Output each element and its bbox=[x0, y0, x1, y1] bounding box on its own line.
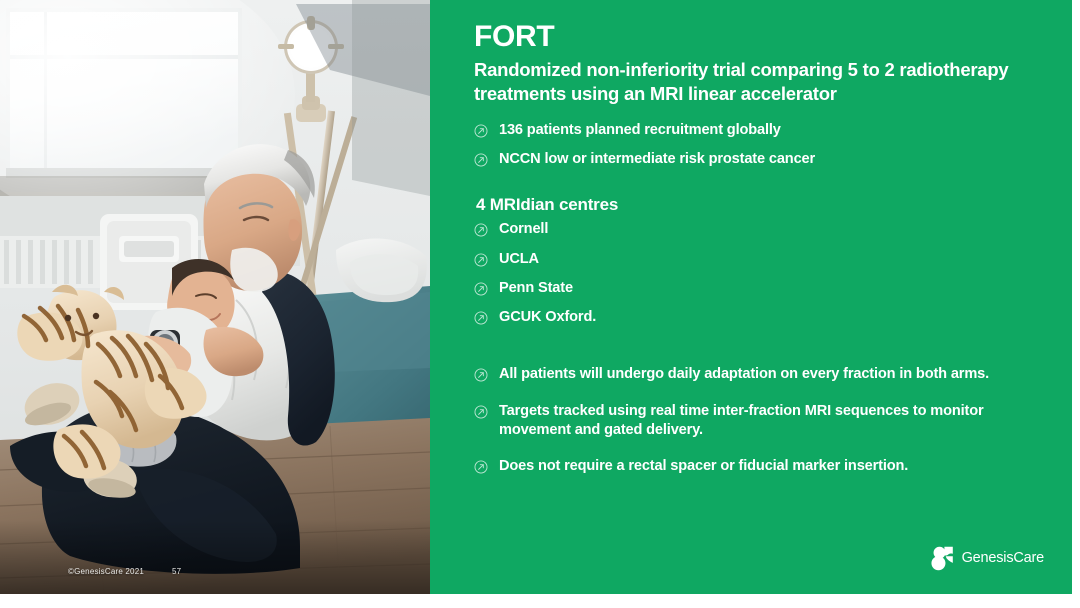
list-item: Cornell bbox=[474, 220, 1034, 239]
list-item: 136 patients planned recruitment globall… bbox=[474, 121, 1034, 140]
circled-arrow-northeast-icon bbox=[474, 405, 488, 419]
genesiscare-logomark-icon bbox=[929, 544, 957, 572]
list-item-label: NCCN low or intermediate risk prostate c… bbox=[499, 150, 815, 169]
list-item: GCUK Oxford. bbox=[474, 308, 1034, 327]
photograph-illustration bbox=[0, 0, 430, 594]
slide-subtitle: Randomized non-inferiority trial compari… bbox=[474, 58, 1019, 107]
section-heading-centres: 4 MRIdian centres bbox=[476, 195, 1042, 215]
circled-arrow-northeast-icon bbox=[474, 253, 488, 267]
circled-arrow-northeast-icon bbox=[474, 368, 488, 382]
genesiscare-logo: GenesisCare bbox=[929, 544, 1044, 572]
list-item-label: GCUK Oxford. bbox=[499, 308, 596, 327]
list-item-label: All patients will undergo daily adaptati… bbox=[499, 365, 989, 384]
circled-arrow-northeast-icon bbox=[474, 124, 488, 138]
list-item-label: Penn State bbox=[499, 279, 573, 298]
list-item: NCCN low or intermediate risk prostate c… bbox=[474, 150, 1034, 169]
content-panel: FORT Randomized non-inferiority trial co… bbox=[430, 0, 1072, 594]
centres-list: Cornell UCLA bbox=[474, 220, 1042, 327]
list-item-label: UCLA bbox=[499, 250, 539, 269]
list-item-label: 136 patients planned recruitment globall… bbox=[499, 121, 781, 140]
circled-arrow-northeast-icon bbox=[474, 311, 488, 325]
circled-arrow-northeast-icon bbox=[474, 223, 488, 237]
photo-footer: ©GenesisCare 2021 57 bbox=[68, 567, 181, 576]
spacer bbox=[474, 179, 1042, 195]
list-item-label: Targets tracked using real time inter-fr… bbox=[499, 402, 1034, 441]
genesiscare-wordmark: GenesisCare bbox=[962, 550, 1044, 566]
slide-photograph: ©GenesisCare 2021 57 bbox=[0, 0, 430, 594]
list-item: Targets tracked using real time inter-fr… bbox=[474, 402, 1034, 441]
trial-acronym: FORT bbox=[474, 22, 1042, 52]
spacer bbox=[474, 337, 1042, 365]
circled-arrow-northeast-icon bbox=[474, 153, 488, 167]
copyright-notice: ©GenesisCare 2021 bbox=[68, 567, 144, 576]
intro-bullet-list: 136 patients planned recruitment globall… bbox=[474, 121, 1042, 170]
list-item: UCLA bbox=[474, 250, 1034, 269]
list-item: All patients will undergo daily adaptati… bbox=[474, 365, 1034, 384]
list-item: Penn State bbox=[474, 279, 1034, 298]
presentation-slide: ©GenesisCare 2021 57 FORT Randomized non… bbox=[0, 0, 1072, 594]
list-item-label: Cornell bbox=[499, 220, 548, 239]
circled-arrow-northeast-icon bbox=[474, 282, 488, 296]
slide-number: 57 bbox=[172, 567, 181, 576]
list-item: Does not require a rectal spacer or fidu… bbox=[474, 457, 1034, 476]
list-item-label: Does not require a rectal spacer or fidu… bbox=[499, 457, 908, 476]
circled-arrow-northeast-icon bbox=[474, 460, 488, 474]
detail-bullet-list: All patients will undergo daily adaptati… bbox=[474, 365, 1042, 476]
